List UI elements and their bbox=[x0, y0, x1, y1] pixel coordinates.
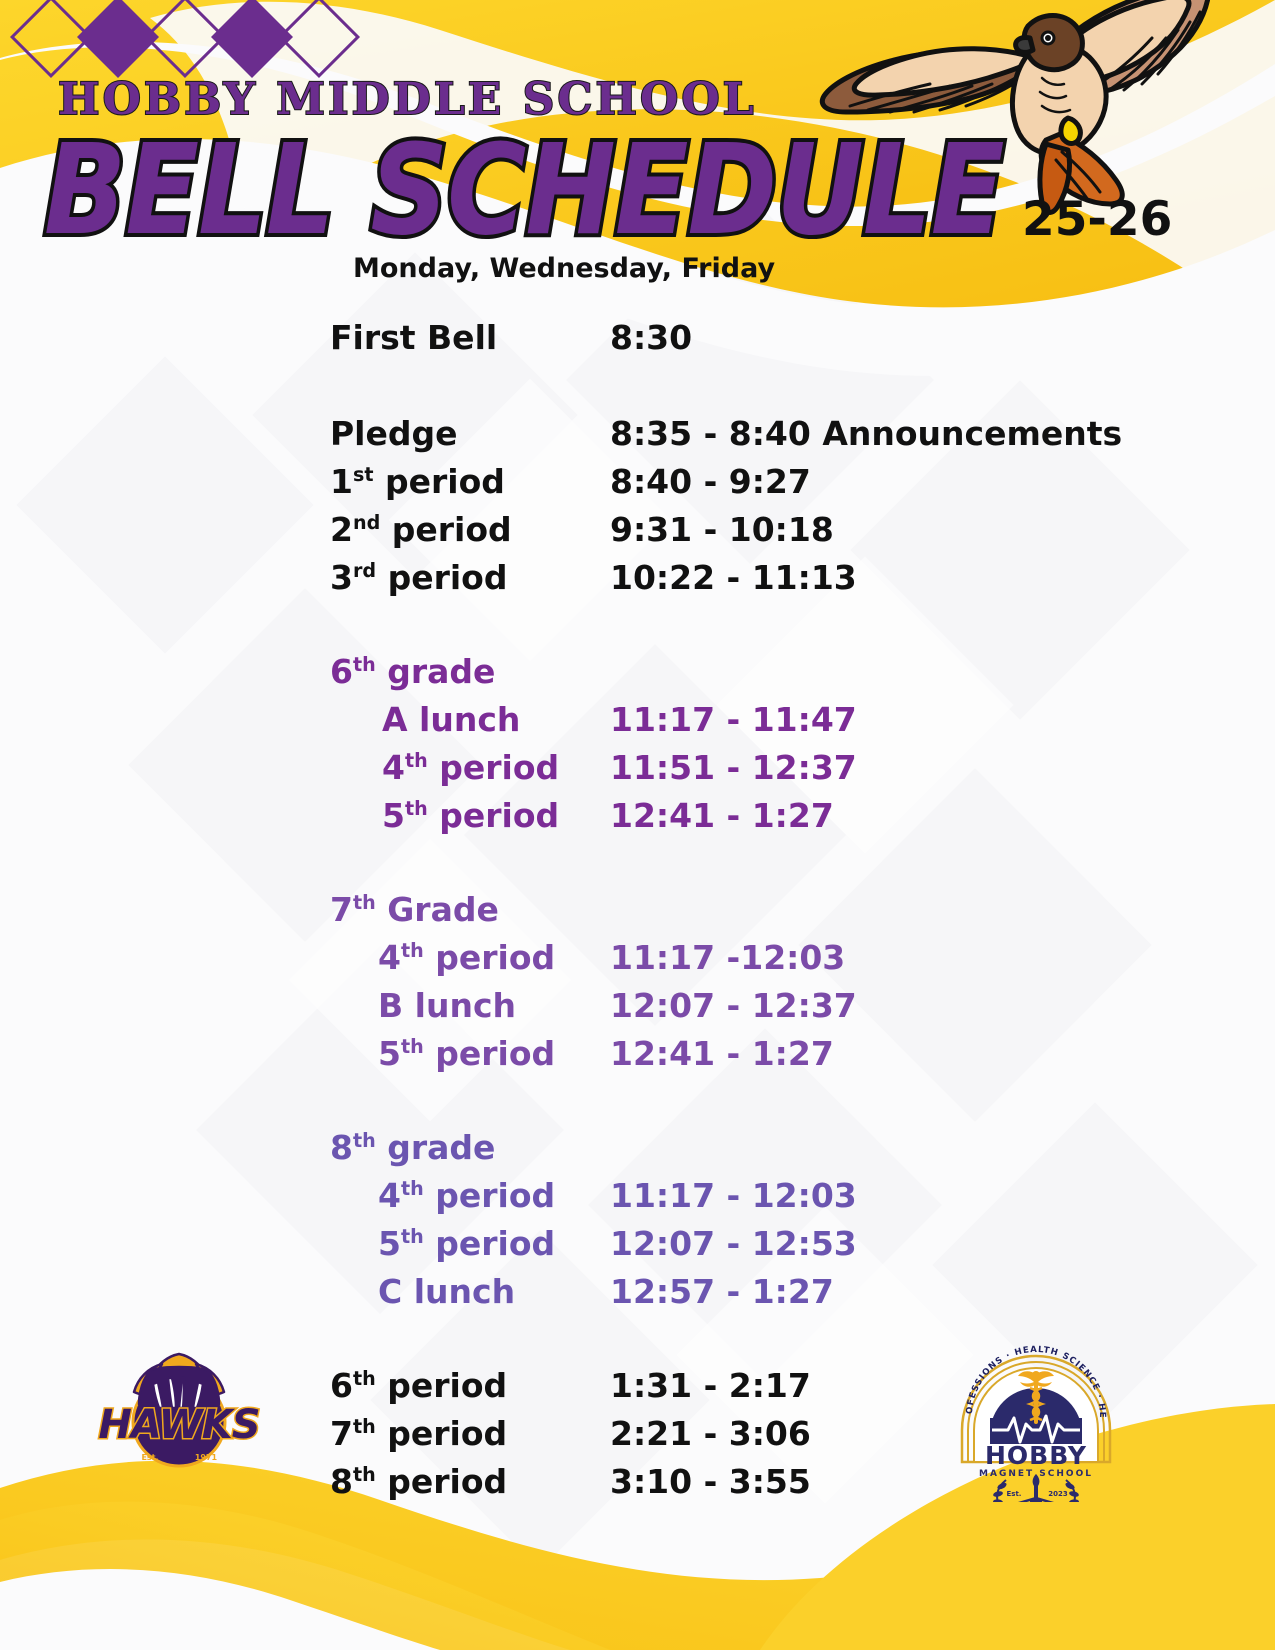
grade-heading-7: 7th Grade bbox=[330, 890, 499, 929]
row-time: 12:41 - 1:27 bbox=[610, 1034, 834, 1073]
row-label: C lunch bbox=[378, 1272, 610, 1311]
row-label: 7th period bbox=[330, 1414, 610, 1453]
days-subtitle: Monday, Wednesday, Friday bbox=[353, 253, 775, 284]
schedule-row-grade6-a-lunch: A lunch 11:17 - 11:47 bbox=[382, 700, 857, 739]
hawks-team-logo: HAWKS Est. 1971 bbox=[72, 1348, 287, 1473]
page-title: BELL SCHEDULE bbox=[44, 118, 1003, 263]
schedule-row-grade6-period-4: 4th period 11:51 - 12:37 bbox=[382, 748, 857, 787]
row-time: 8:40 - 9:27 bbox=[610, 462, 811, 501]
row-time: 12:07 - 12:53 bbox=[610, 1224, 857, 1263]
row-label: Pledge bbox=[330, 414, 610, 453]
schedule-row-period-1: 1st period 8:40 - 9:27 bbox=[330, 462, 811, 501]
row-time: 12:07 - 12:37 bbox=[610, 986, 857, 1025]
row-time: 11:17 -12:03 bbox=[610, 938, 845, 977]
schedule-row-grade8-period-4: 4th period 11:17 - 12:03 bbox=[378, 1176, 857, 1215]
schedule-row-period-8: 8th period 3:10 - 3:55 bbox=[330, 1462, 811, 1501]
row-time: 10:22 - 11:13 bbox=[610, 558, 857, 597]
seal-school-name: HOBBY bbox=[985, 1441, 1087, 1470]
schedule-row-grade6-period-5: 5th period 12:41 - 1:27 bbox=[382, 796, 834, 835]
row-label: 5th period bbox=[378, 1034, 610, 1073]
schedule-row-pledge: Pledge 8:35 - 8:40 Announcements bbox=[330, 414, 1122, 453]
row-label: 5th period bbox=[378, 1224, 610, 1263]
row-label: 2nd period bbox=[330, 510, 610, 549]
row-label: 4th period bbox=[378, 1176, 610, 1215]
row-time: 8:30 bbox=[610, 318, 692, 357]
hawks-wordmark: HAWKS bbox=[98, 1402, 259, 1448]
schedule-row-period-6: 6th period 1:31 - 2:17 bbox=[330, 1366, 811, 1405]
schedule-row-grade7-b-lunch: B lunch 12:07 - 12:37 bbox=[378, 986, 857, 1025]
schedule-row-first-bell: First Bell 8:30 bbox=[330, 318, 692, 357]
row-time: 12:57 - 1:27 bbox=[610, 1272, 834, 1311]
row-label: 6th period bbox=[330, 1366, 610, 1405]
row-time: 11:17 - 12:03 bbox=[610, 1176, 857, 1215]
row-label: B lunch bbox=[378, 986, 610, 1025]
schedule-row-grade7-period-5: 5th period 12:41 - 1:27 bbox=[378, 1034, 834, 1073]
row-label: 5th period bbox=[382, 796, 610, 835]
row-time: 8:35 - 8:40 Announcements bbox=[610, 414, 1122, 453]
schedule-row-period-7: 7th period 2:21 - 3:06 bbox=[330, 1414, 811, 1453]
schedule-row-period-3: 3rd period 10:22 - 11:13 bbox=[330, 558, 857, 597]
grade-heading-6: 6th grade bbox=[330, 652, 495, 691]
schedule-row-period-2: 2nd period 9:31 - 10:18 bbox=[330, 510, 834, 549]
diamond-ornament-row bbox=[22, 8, 348, 66]
bell-schedule-flyer: HOBBY MIDDLE SCHOOL BELL SCHEDULE 25-26 … bbox=[0, 0, 1275, 1650]
row-label: 8th period bbox=[330, 1462, 610, 1501]
schedule-row-grade8-c-lunch: C lunch 12:57 - 1:27 bbox=[378, 1272, 834, 1311]
row-label: 1st period bbox=[330, 462, 610, 501]
hawks-est-left: Est. bbox=[141, 1453, 158, 1462]
hobby-magnet-school-seal: HEALTH PROFESSIONS · HEALTH SCIENCE · HE… bbox=[952, 1312, 1120, 1502]
row-time: 9:31 - 10:18 bbox=[610, 510, 834, 549]
seal-est-left: Est. bbox=[1007, 1490, 1022, 1498]
row-time: 11:17 - 11:47 bbox=[610, 700, 857, 739]
row-time: 1:31 - 2:17 bbox=[610, 1366, 811, 1405]
row-label: 4th period bbox=[378, 938, 610, 977]
school-year-label: 25-26 bbox=[1022, 192, 1172, 247]
row-time: 3:10 - 3:55 bbox=[610, 1462, 811, 1501]
schedule-row-grade8-period-5: 5th period 12:07 - 12:53 bbox=[378, 1224, 857, 1263]
seal-est-right: 2023 bbox=[1048, 1490, 1068, 1498]
schedule-row-grade7-period-4: 4th period 11:17 -12:03 bbox=[378, 938, 845, 977]
row-time: 2:21 - 3:06 bbox=[610, 1414, 811, 1453]
row-label: 4th period bbox=[382, 748, 610, 787]
hawks-est-right: 1971 bbox=[195, 1453, 218, 1462]
row-time: 11:51 - 12:37 bbox=[610, 748, 857, 787]
row-label: A lunch bbox=[382, 700, 610, 739]
grade-heading-8: 8th grade bbox=[330, 1128, 495, 1167]
row-label: First Bell bbox=[330, 318, 610, 357]
row-time: 12:41 - 1:27 bbox=[610, 796, 834, 835]
row-label: 3rd period bbox=[330, 558, 610, 597]
